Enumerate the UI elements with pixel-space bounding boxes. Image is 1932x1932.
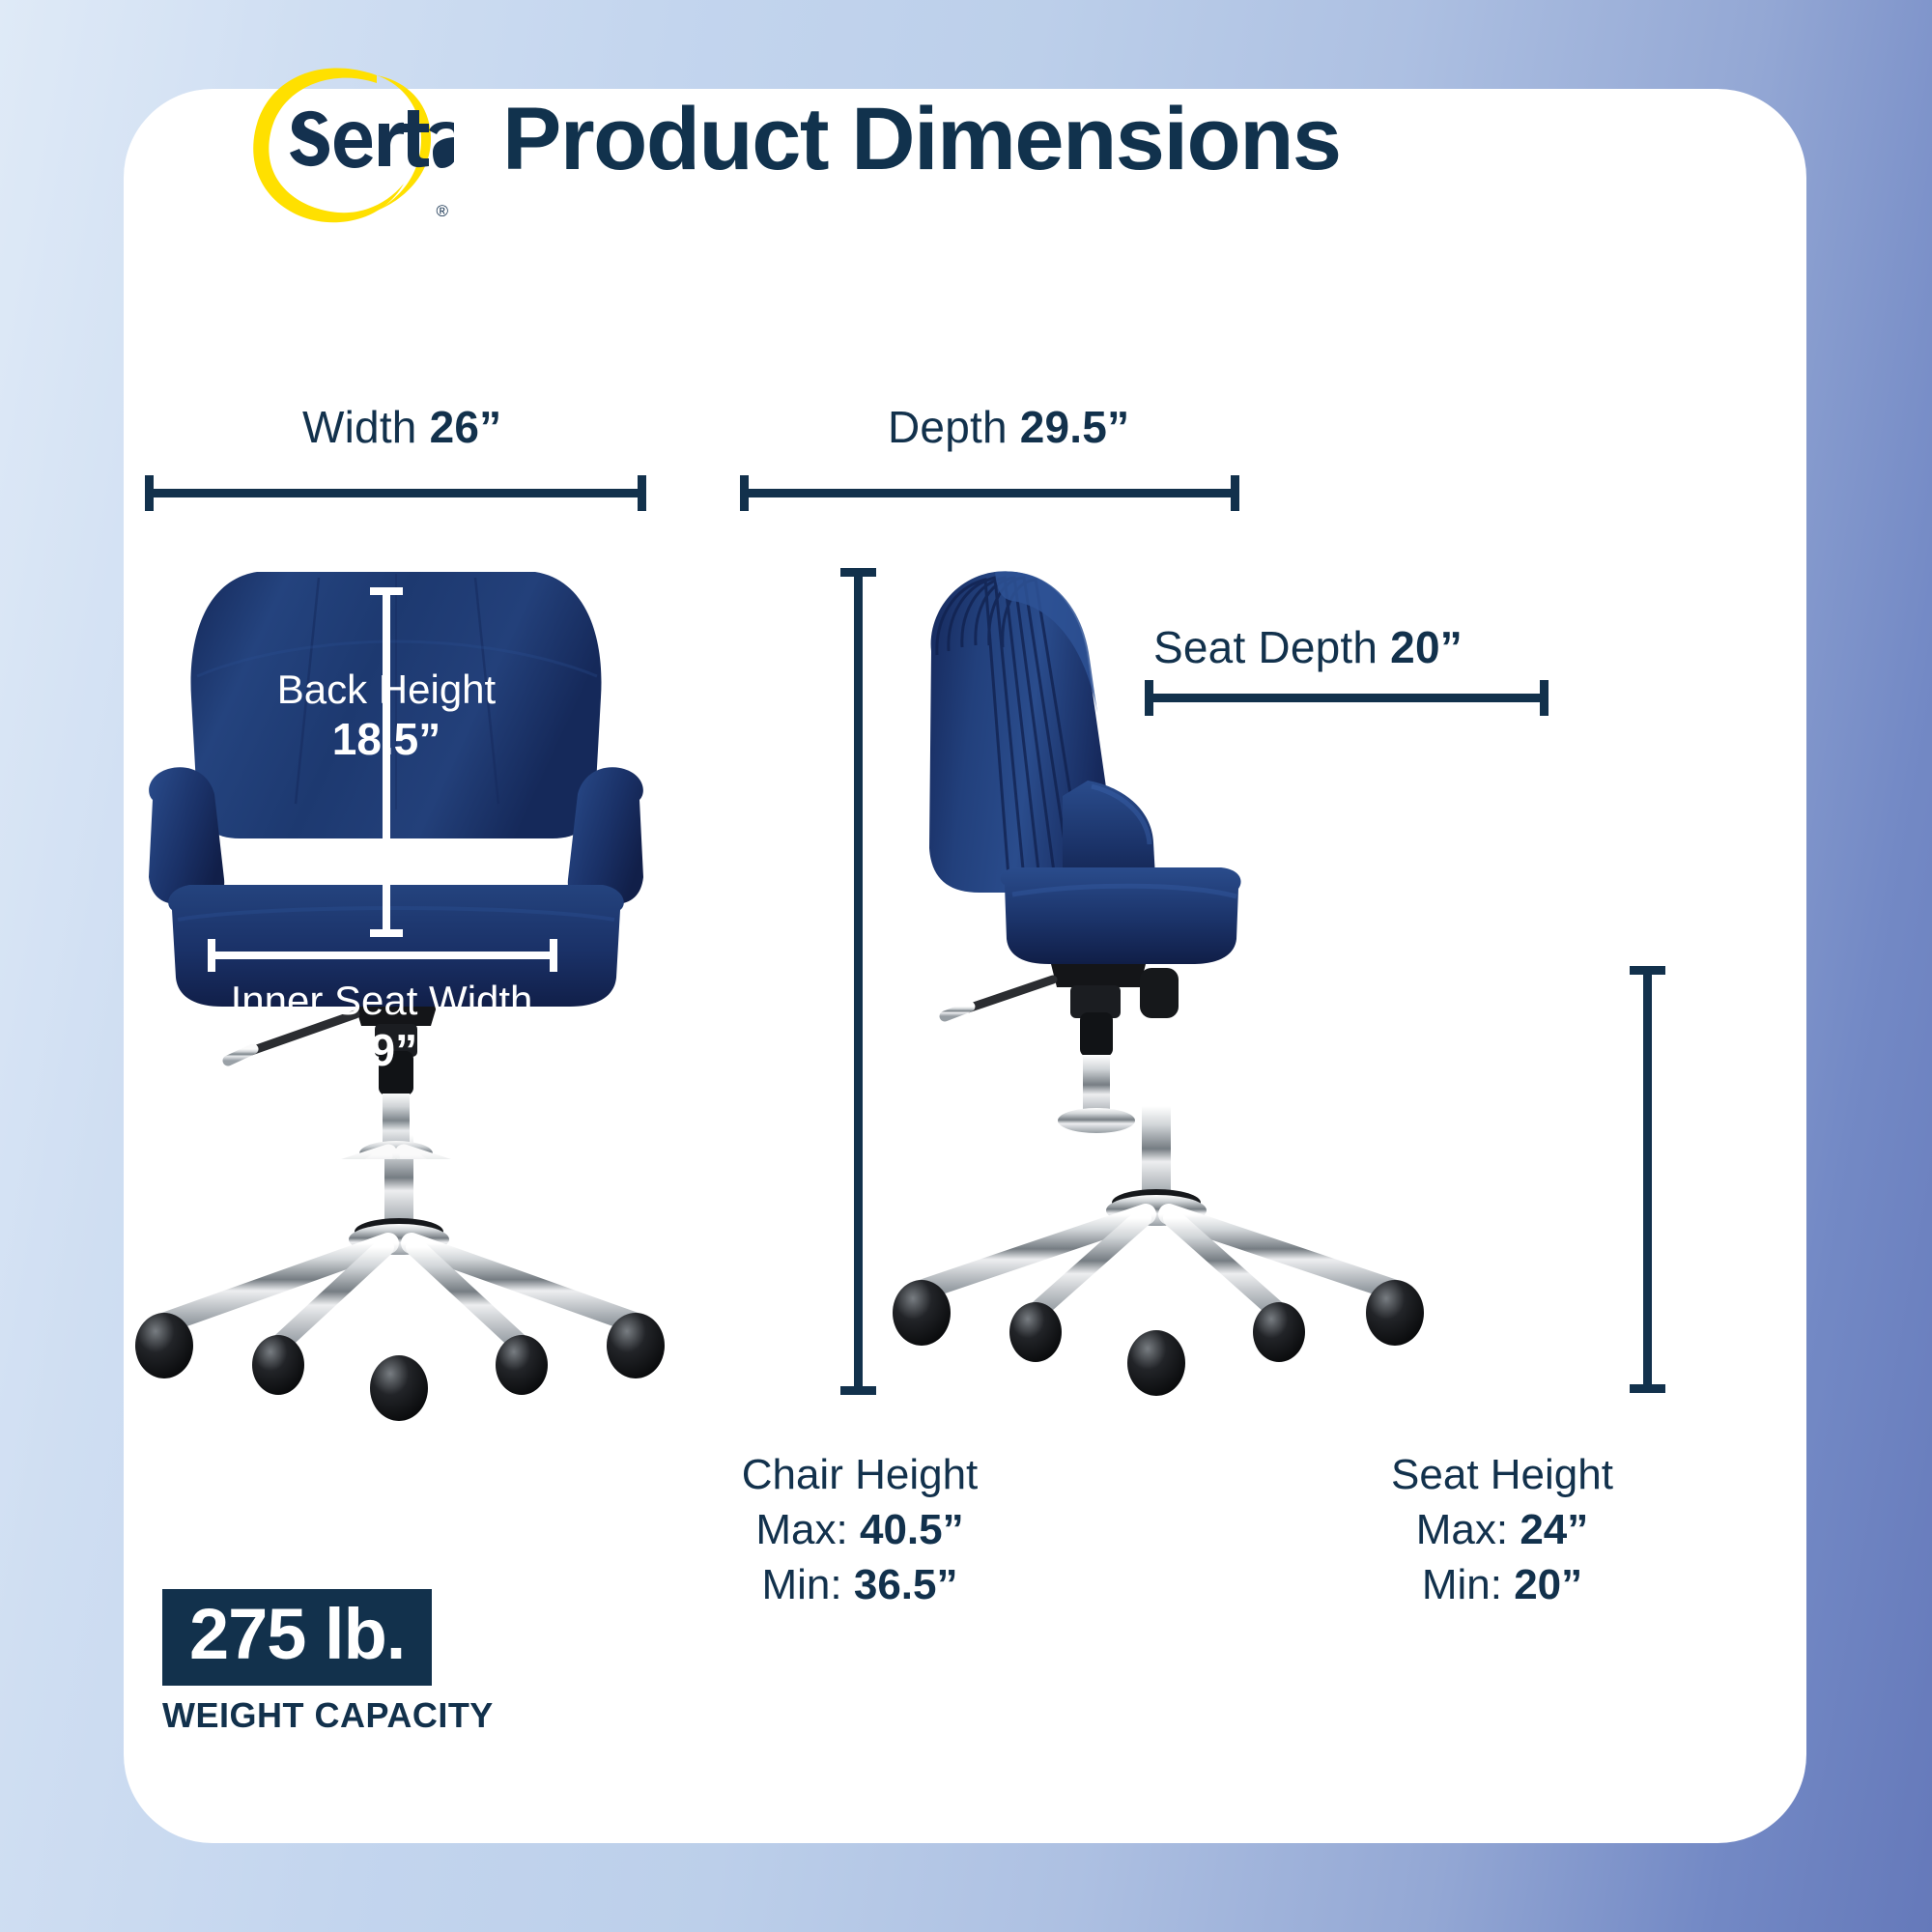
inner-seat-width-value: 19” bbox=[346, 1025, 417, 1075]
inner-seat-width-label-text: Inner Seat Width bbox=[231, 978, 533, 1023]
seat-height-max-label: Max: bbox=[1416, 1506, 1508, 1553]
chair-height-min-label: Min: bbox=[762, 1561, 842, 1608]
seat-depth-value: 20” bbox=[1390, 622, 1463, 672]
weight-capacity-box: 275 lb. bbox=[162, 1589, 432, 1686]
depth-value: 29.5” bbox=[1020, 402, 1130, 452]
back-height-value: 18.5” bbox=[332, 714, 441, 764]
back-height-label-text: Back Height bbox=[277, 667, 496, 712]
chair-height-dimension-line bbox=[854, 568, 863, 1395]
seat-height-label: Seat Height Max: 24” Min: 20” bbox=[1222, 1447, 1782, 1613]
inner-seat-width-dimension-line bbox=[208, 952, 557, 959]
serta-crescent-logo-icon: ® bbox=[232, 60, 454, 229]
width-value: 26” bbox=[430, 402, 502, 452]
width-label-text: Width bbox=[302, 402, 417, 452]
registered-trademark-symbol: ® bbox=[436, 203, 448, 219]
weight-capacity-value: 275 lb. bbox=[189, 1599, 405, 1670]
depth-dimension-line bbox=[740, 489, 1239, 497]
chair-height-max-label: Max: bbox=[755, 1506, 847, 1553]
infographic-canvas: ® Product Dimensions Width 26” Depth 29.… bbox=[0, 0, 1932, 1932]
chair-height-max-value: 40.5” bbox=[860, 1506, 964, 1553]
chair-front-base bbox=[135, 1135, 676, 1444]
back-height-label: Back Height 18.5” bbox=[155, 667, 618, 765]
chair-side-view bbox=[908, 558, 1314, 1157]
weight-capacity-caption: WEIGHT CAPACITY bbox=[162, 1695, 494, 1736]
seat-height-title: Seat Height bbox=[1391, 1451, 1613, 1498]
chair-height-min-value: 36.5” bbox=[854, 1561, 958, 1608]
width-dimension-line bbox=[145, 489, 646, 497]
seat-height-min-label: Min: bbox=[1422, 1561, 1502, 1608]
inner-seat-width-label: Inner Seat Width 19” bbox=[140, 978, 623, 1076]
chair-height-title: Chair Height bbox=[742, 1451, 979, 1498]
header: ® Product Dimensions bbox=[0, 48, 1932, 232]
chair-height-label: Chair Height Max: 40.5” Min: 36.5” bbox=[580, 1447, 1140, 1613]
width-label: Width 26” bbox=[302, 401, 501, 453]
seat-height-dimension-line bbox=[1643, 966, 1652, 1393]
weight-capacity-badge: 275 lb. WEIGHT CAPACITY bbox=[162, 1589, 494, 1736]
page-title: Product Dimensions bbox=[502, 89, 1341, 190]
seat-height-max-value: 24” bbox=[1520, 1506, 1588, 1553]
seat-height-min-value: 20” bbox=[1514, 1561, 1582, 1608]
depth-label: Depth 29.5” bbox=[888, 401, 1129, 453]
depth-label-text: Depth bbox=[888, 402, 1008, 452]
